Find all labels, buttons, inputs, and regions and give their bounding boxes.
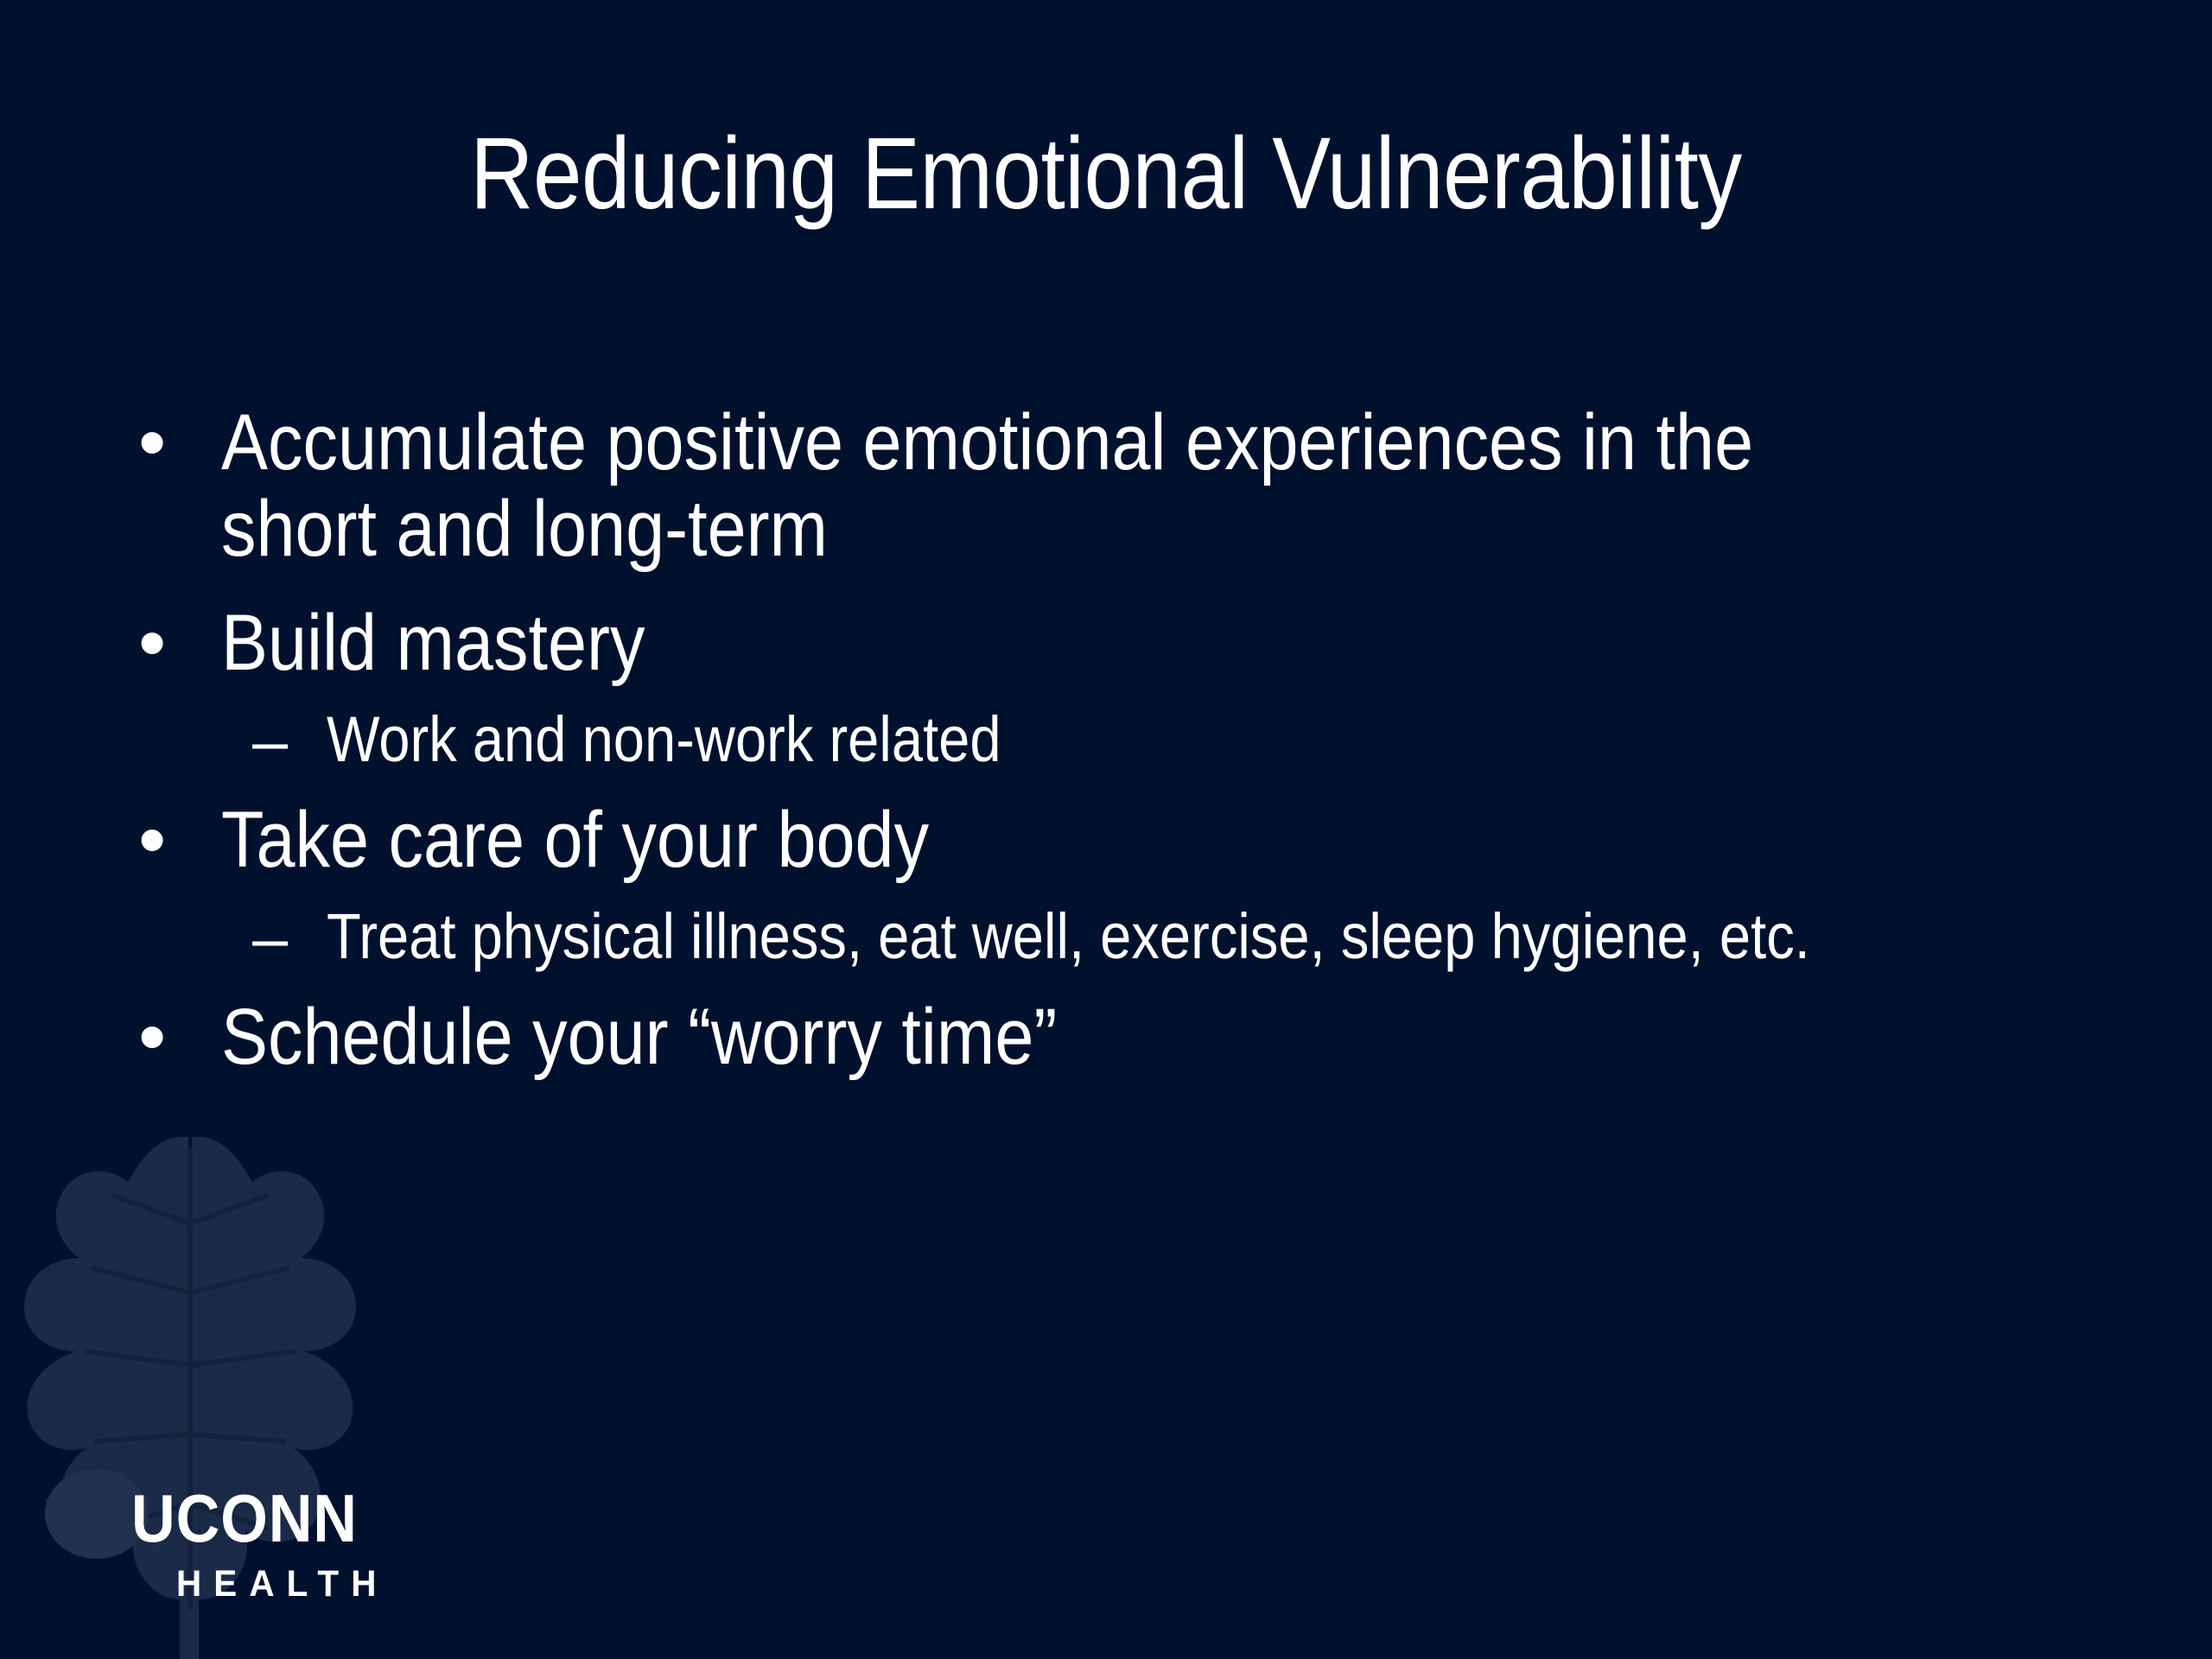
list-item: • Schedule your “worry time”	[130, 994, 2143, 1080]
bullet-marker-icon: •	[130, 399, 221, 486]
bullet-marker-icon: •	[130, 994, 221, 1080]
page-title: Reducing Emotional Vulnerability	[155, 121, 2057, 227]
list-item: • Accumulate positive emotional experien…	[130, 399, 2143, 572]
list-item: – Treat physical illness, eat well, exer…	[130, 900, 2143, 976]
spacer	[130, 982, 2143, 994]
list-item: • Build mastery	[130, 600, 2143, 686]
list-item-text: Work and non-work related	[327, 703, 1925, 776]
uconn-health-logo: UCONN HEALTH	[131, 1484, 402, 1603]
bullet-marker-icon: •	[130, 797, 221, 883]
list-item-text: Treat physical illness, eat well, exerci…	[327, 900, 1925, 973]
list-item-text: Take care of your body	[221, 797, 1912, 883]
spacer	[130, 577, 2143, 600]
spacer	[130, 888, 2143, 900]
slide: Reducing Emotional Vulnerability • Accum…	[0, 0, 2212, 1659]
list-item: • Take care of your body	[130, 797, 2143, 883]
spacer	[130, 691, 2143, 703]
list-item-text: Accumulate positive emotional experience…	[221, 399, 1912, 572]
bullet-list: • Accumulate positive emotional experien…	[130, 399, 2143, 1085]
list-item-text: Build mastery	[221, 600, 1912, 686]
dash-marker-icon: –	[247, 703, 327, 779]
list-item-text: Schedule your “worry time”	[221, 994, 1912, 1080]
dash-marker-icon: –	[247, 900, 327, 976]
logo-primary-text: UCONN	[131, 1484, 375, 1552]
logo-secondary-text: HEALTH	[176, 1566, 389, 1603]
bullet-marker-icon: •	[130, 600, 221, 686]
list-item: – Work and non-work related	[130, 703, 2143, 779]
spacer	[130, 785, 2143, 797]
